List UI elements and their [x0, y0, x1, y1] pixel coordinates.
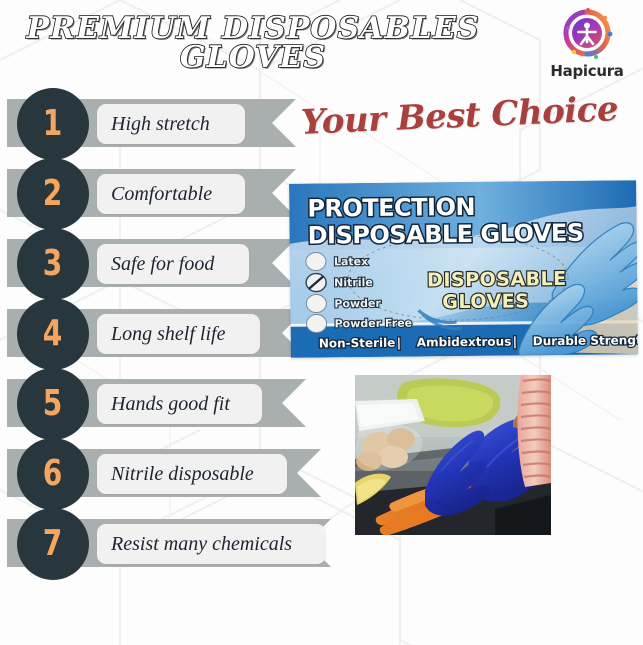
svg-text:Powder: Powder	[334, 297, 381, 310]
feature-label: Hands good fit	[111, 393, 230, 416]
feature-label-box: Resist many chemicals	[97, 524, 326, 564]
svg-text:|: |	[397, 336, 402, 350]
svg-text:DISPOSABLE GLOVES: DISPOSABLE GLOVES	[307, 219, 583, 250]
feature-number-badge: 7	[17, 508, 89, 580]
feature-number: 3	[43, 246, 63, 282]
feature-label-box: Hands good fit	[97, 384, 262, 424]
svg-text:Ambidextrous: Ambidextrous	[417, 335, 512, 350]
hapicura-circle-person-logo-icon	[560, 6, 614, 60]
feature-label: Long shelf life	[111, 323, 225, 346]
logo-wordmark: Hapicura	[545, 62, 629, 80]
feature-number: 6	[43, 456, 63, 492]
svg-text:Non-Sterile: Non-Sterile	[319, 336, 396, 351]
feature-row[interactable]: 6 Nitrile disposable	[0, 438, 360, 508]
svg-text:Powder Free: Powder Free	[334, 317, 412, 331]
feature-label-box: Safe for food	[97, 244, 249, 284]
feature-label: Comfortable	[111, 183, 212, 206]
feature-label-box: Comfortable	[97, 174, 245, 214]
feature-number: 1	[43, 106, 63, 142]
feature-row[interactable]: 7 Resist many chemicals	[0, 508, 360, 578]
lifestyle-photo	[355, 375, 551, 535]
feature-label-box: Nitrile disposable	[97, 454, 287, 494]
svg-text:|: |	[513, 334, 518, 348]
feature-number-badge: 3	[17, 228, 89, 300]
feature-label: High stretch	[111, 113, 210, 136]
brand-logo[interactable]: Hapicura	[545, 6, 629, 80]
feature-label: Safe for food	[111, 253, 214, 276]
feature-number: 7	[43, 526, 63, 562]
feature-number-badge: 4	[17, 298, 89, 370]
feature-row[interactable]: 5 Hands good fit	[0, 368, 360, 438]
svg-text:Latex: Latex	[334, 255, 368, 268]
feature-label: Resist many chemicals	[111, 533, 292, 556]
svg-text:GLOVES: GLOVES	[442, 290, 529, 313]
page-title: PREMIUM DISPOSABLES GLOVES	[18, 14, 488, 72]
feature-number: 2	[43, 176, 63, 212]
feature-number-badge: 2	[17, 158, 89, 230]
product-box-image: PROTECTION DISPOSABLE GLOVES DISPOSABLE …	[289, 180, 638, 358]
feature-number: 5	[43, 386, 63, 422]
svg-text:DISPOSABLE: DISPOSABLE	[427, 268, 567, 291]
feature-label-box: Long shelf life	[97, 314, 260, 354]
feature-number-badge: 6	[17, 438, 89, 510]
feature-number-badge: 5	[17, 368, 89, 440]
feature-number-badge: 1	[17, 88, 89, 160]
svg-text:Durable Strength: Durable Strength	[533, 333, 638, 348]
feature-label: Nitrile disposable	[111, 463, 254, 486]
feature-number: 4	[43, 316, 63, 352]
script-heading: Your Best Choice	[285, 88, 633, 143]
right-column: Your Best Choice	[286, 96, 643, 136]
svg-text:PROTECTION: PROTECTION	[307, 193, 475, 223]
feature-label-box: High stretch	[97, 104, 245, 144]
svg-text:Nitrile: Nitrile	[334, 276, 373, 289]
